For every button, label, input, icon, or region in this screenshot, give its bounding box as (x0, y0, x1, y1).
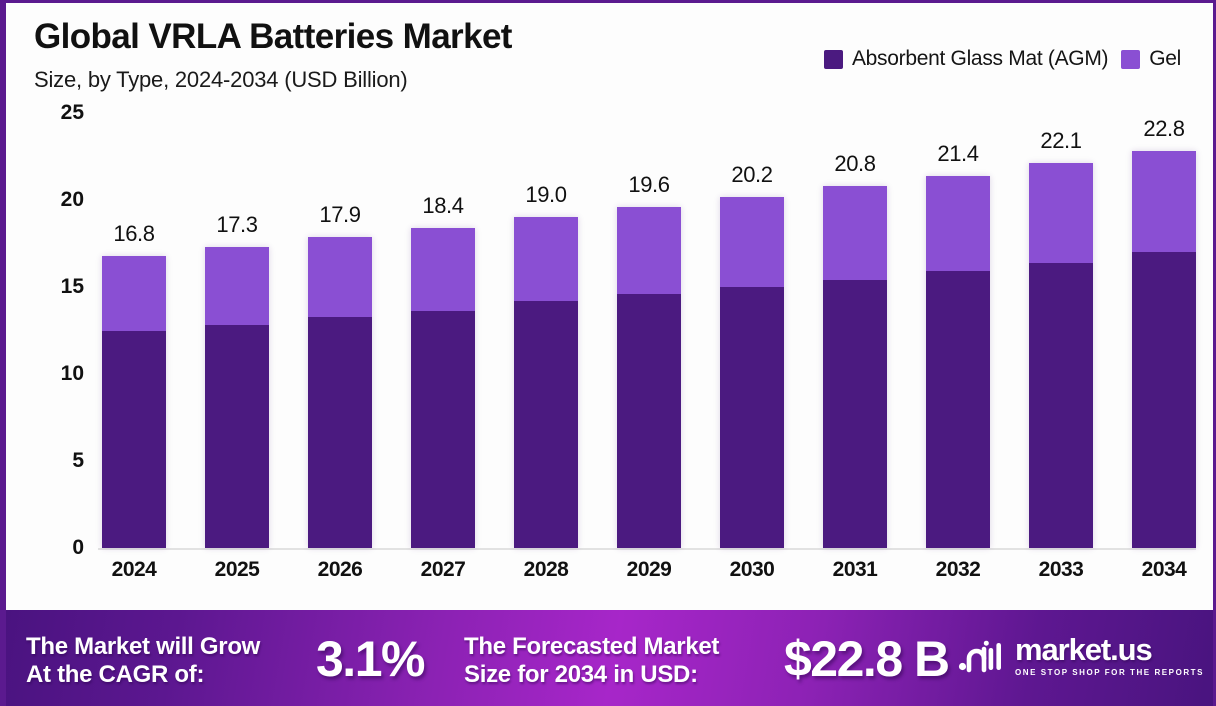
x-axis: 2024202520262027202820292030203120322033… (102, 558, 1196, 598)
bar-stack[interactable] (1132, 151, 1196, 548)
forecast-size-caption: The Forecasted Market Size for 2034 in U… (464, 633, 719, 689)
bar-segment-agm[interactable] (308, 317, 372, 548)
bar-segment-agm[interactable] (411, 311, 475, 548)
bar-column[interactable]: 16.8 (102, 113, 166, 548)
bar-column[interactable]: 19.0 (514, 113, 578, 548)
cagr-caption: The Market will Grow At the CAGR of: (26, 633, 260, 689)
bar-segment-gel[interactable] (411, 228, 475, 312)
cagr-caption-line2: At the CAGR of: (26, 661, 204, 688)
y-axis-tick: 20 (61, 188, 84, 212)
bar-column[interactable]: 17.3 (205, 113, 269, 548)
bar-segment-agm[interactable] (720, 287, 784, 548)
bar-column[interactable]: 21.4 (926, 113, 990, 548)
bar-value-label: 20.8 (834, 151, 875, 177)
bar-value-label: 17.9 (319, 202, 360, 228)
bar-segment-agm[interactable] (823, 280, 887, 548)
chart-plot-area: 0510152025 16.817.317.918.419.019.620.22… (6, 113, 1216, 613)
size-caption-line1: The Forecasted Market (464, 633, 719, 660)
logo-text-block: market.us ONE STOP SHOP FOR THE REPORTS (1015, 634, 1204, 677)
bar-value-label: 20.2 (731, 162, 772, 188)
bar-column[interactable]: 20.8 (823, 113, 887, 548)
y-axis-tick: 0 (72, 536, 84, 560)
bar-value-label: 22.8 (1143, 116, 1184, 142)
logo-tagline: ONE STOP SHOP FOR THE REPORTS (1015, 668, 1204, 677)
bar-column[interactable]: 20.2 (720, 113, 784, 548)
x-axis-tick: 2024 (102, 558, 166, 582)
bar-segment-gel[interactable] (617, 207, 681, 294)
forecast-size-value: $22.8 B (784, 630, 949, 688)
bar-column[interactable]: 19.6 (617, 113, 681, 548)
legend-item-gel[interactable]: Gel (1121, 47, 1181, 71)
bar-stack[interactable] (411, 228, 475, 548)
bar-value-label: 18.4 (422, 193, 463, 219)
chart-header: Global VRLA Batteries Market Size, by Ty… (6, 3, 1213, 113)
bar-segment-gel[interactable] (1029, 163, 1093, 262)
bar-segment-agm[interactable] (205, 325, 269, 548)
bar-column[interactable]: 22.8 (1132, 113, 1196, 548)
bar-segment-gel[interactable] (514, 217, 578, 301)
x-axis-tick: 2029 (617, 558, 681, 582)
bar-segment-agm[interactable] (514, 301, 578, 548)
x-axis-tick: 2031 (823, 558, 887, 582)
bar-column[interactable]: 22.1 (1029, 113, 1093, 548)
bar-value-label: 21.4 (937, 141, 978, 167)
size-caption-line2: Size for 2034 in USD: (464, 661, 698, 688)
chart-legend: Absorbent Glass Mat (AGM) Gel (824, 47, 1181, 71)
cagr-caption-line1: The Market will Grow (26, 633, 260, 660)
bar-stack[interactable] (926, 176, 990, 548)
bar-stack[interactable] (514, 217, 578, 548)
bar-stack[interactable] (205, 247, 269, 548)
bar-segment-gel[interactable] (205, 247, 269, 325)
x-axis-tick: 2025 (205, 558, 269, 582)
bar-segment-gel[interactable] (102, 256, 166, 331)
x-axis-tick: 2027 (411, 558, 475, 582)
logo-wordmark: market.us (1015, 634, 1204, 665)
bar-segment-agm[interactable] (617, 294, 681, 548)
x-axis-tick: 2033 (1029, 558, 1093, 582)
legend-item-agm[interactable]: Absorbent Glass Mat (AGM) (824, 47, 1108, 71)
title-block: Global VRLA Batteries Market Size, by Ty… (34, 19, 512, 93)
legend-label-gel: Gel (1149, 47, 1181, 71)
y-axis-tick: 10 (61, 362, 84, 386)
x-axis-tick: 2030 (720, 558, 784, 582)
page-subtitle: Size, by Type, 2024-2034 (USD Billion) (34, 67, 512, 93)
bar-value-label: 19.0 (525, 182, 566, 208)
bar-segment-gel[interactable] (926, 176, 990, 272)
bar-stack[interactable] (1029, 163, 1093, 548)
bar-segment-agm[interactable] (1029, 263, 1093, 548)
x-axis-baseline (98, 548, 1196, 550)
legend-label-agm: Absorbent Glass Mat (AGM) (852, 47, 1108, 71)
summary-banner: The Market will Grow At the CAGR of: 3.1… (6, 610, 1216, 706)
y-axis-tick: 25 (61, 101, 84, 125)
market-us-logo[interactable]: market.us ONE STOP SHOP FOR THE REPORTS (958, 634, 1204, 677)
bar-value-label: 17.3 (216, 212, 257, 238)
bar-stack[interactable] (308, 237, 372, 548)
bar-segment-gel[interactable] (308, 237, 372, 317)
y-axis: 0510152025 (6, 113, 98, 548)
x-axis-tick: 2032 (926, 558, 990, 582)
bar-segment-agm[interactable] (926, 271, 990, 548)
bar-column[interactable]: 17.9 (308, 113, 372, 548)
bar-group: 16.817.317.918.419.019.620.220.821.422.1… (102, 113, 1196, 548)
bar-stack[interactable] (617, 207, 681, 548)
x-axis-tick: 2034 (1132, 558, 1196, 582)
bar-segment-gel[interactable] (1132, 151, 1196, 252)
bar-stack[interactable] (720, 197, 784, 548)
bar-value-label: 22.1 (1040, 128, 1081, 154)
legend-swatch-gel (1121, 50, 1140, 69)
x-axis-tick: 2028 (514, 558, 578, 582)
legend-swatch-agm (824, 50, 843, 69)
bar-segment-agm[interactable] (1132, 252, 1196, 548)
bar-value-label: 16.8 (113, 221, 154, 247)
bar-value-label: 19.6 (628, 172, 669, 198)
market-us-logo-icon (958, 639, 1004, 673)
infographic-root: Global VRLA Batteries Market Size, by Ty… (0, 0, 1216, 706)
bar-segment-gel[interactable] (720, 197, 784, 287)
y-axis-tick: 5 (72, 449, 84, 473)
cagr-value: 3.1% (316, 630, 424, 688)
x-axis-tick: 2026 (308, 558, 372, 582)
bar-segment-gel[interactable] (823, 186, 887, 280)
bar-stack[interactable] (102, 256, 166, 548)
page-title: Global VRLA Batteries Market (34, 19, 512, 56)
bar-column[interactable]: 18.4 (411, 113, 475, 548)
bar-segment-agm[interactable] (102, 331, 166, 549)
y-axis-tick: 15 (61, 275, 84, 299)
bar-stack[interactable] (823, 186, 887, 548)
